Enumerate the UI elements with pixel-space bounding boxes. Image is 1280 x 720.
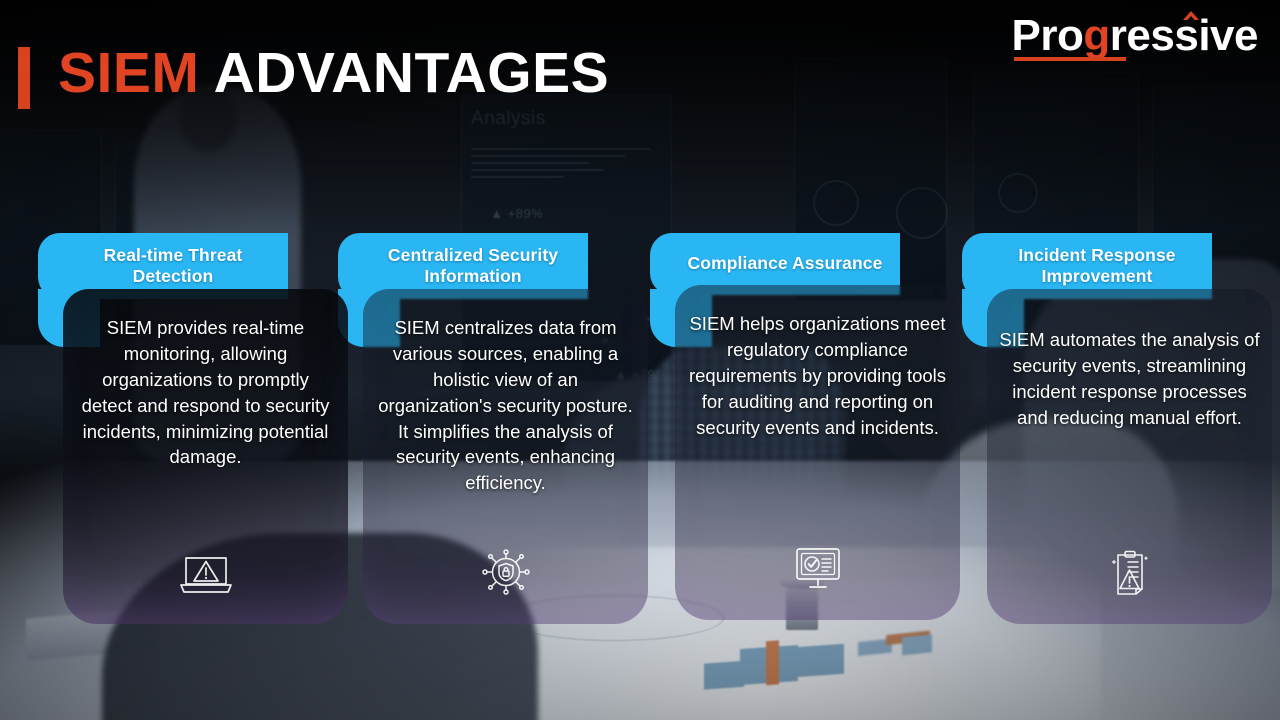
card-description: SIEM helps organizations meet regulatory… <box>687 311 948 440</box>
card-description: SIEM automates the analysis of security … <box>999 327 1260 431</box>
clipboard-warning-icon <box>987 548 1272 596</box>
card-body: SIEM automates the analysis of security … <box>987 289 1272 624</box>
card-description: SIEM provides real-time monitoring, allo… <box>75 315 336 470</box>
shield-lock-network-icon <box>363 548 648 596</box>
card-title: Centralized Security Information <box>388 245 558 288</box>
logo-underline-icon <box>1014 57 1126 61</box>
card-title: Compliance Assurance <box>688 253 883 274</box>
laptop-warning-icon <box>63 552 348 596</box>
card-body: SIEM centralizes data from various sourc… <box>363 289 648 624</box>
card-title: Incident Response Improvement <box>1018 245 1175 288</box>
presentation-slide: Analysis ▲ +89% ▲ +79% <box>0 0 1280 720</box>
monitor-check-report-icon <box>675 544 960 592</box>
brand-logo: Progressive <box>1012 14 1258 58</box>
logo-text-pre: Pro <box>1012 11 1084 60</box>
page-title: SIEM ADVANTAGES <box>58 45 609 102</box>
card-description: SIEM centralizes data from various sourc… <box>375 315 636 496</box>
title-accent-bar <box>18 47 30 109</box>
page-title-rest: ADVANTAGES <box>199 41 609 105</box>
card-body: SIEM provides real-time monitoring, allo… <box>63 289 348 624</box>
logo-text-g: g <box>1083 11 1109 60</box>
card-title: Real-time Threat Detection <box>104 245 243 288</box>
card-body: SIEM helps organizations meet regulatory… <box>675 285 960 620</box>
page-title-highlight: SIEM <box>58 41 199 105</box>
logo-caret-icon <box>1183 11 1199 20</box>
